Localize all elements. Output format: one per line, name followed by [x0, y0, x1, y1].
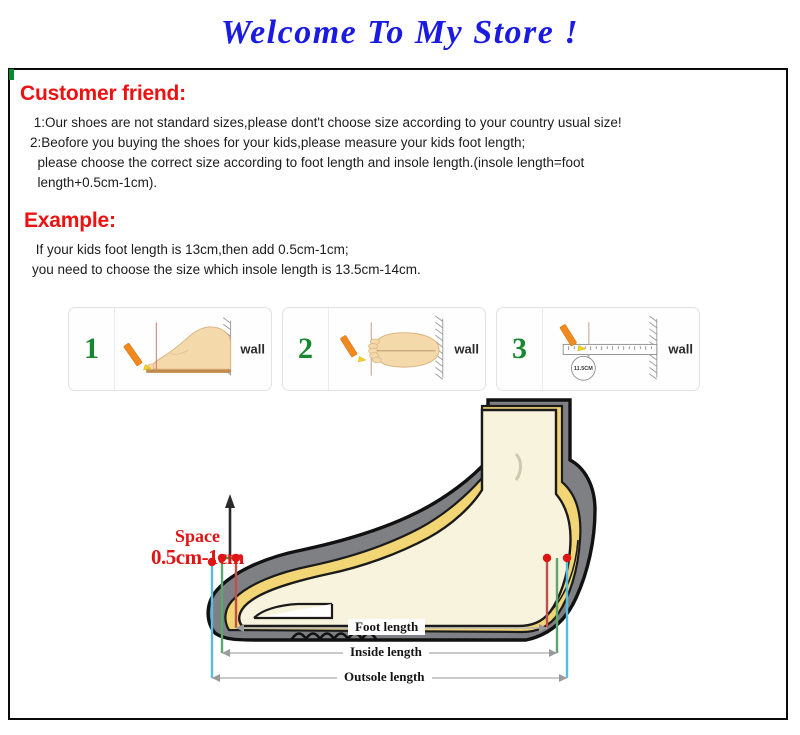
customer-friend-heading: Customer friend:	[20, 82, 186, 106]
step-3-illustration: 11.5CM wall	[543, 308, 699, 390]
step-2-wall-label: wall	[454, 342, 479, 357]
measuring-steps: 1	[68, 307, 700, 389]
inside-length-label: Inside length	[343, 644, 429, 660]
step-3-wall-label: wall	[668, 342, 693, 357]
step-3-number: 3	[497, 308, 543, 390]
space-callout: Space 0.5cm-1cm	[151, 527, 244, 568]
customer-friend-text: 1:Our shoes are not standard sizes,pleas…	[30, 113, 622, 193]
step-1-illustration: wall	[115, 308, 271, 390]
example-text: If your kids foot length is 13cm,then ad…	[32, 240, 421, 280]
page-header: Welcome To My Store !	[0, 0, 800, 66]
step-1-number: 1	[69, 308, 115, 390]
outsole-length-label: Outsole length	[337, 669, 432, 685]
step-2: 2	[282, 307, 486, 391]
space-callout-line2: 0.5cm-1cm	[151, 546, 244, 568]
step-2-illustration: wall	[329, 308, 485, 390]
page-title: Welcome To My Store !	[221, 14, 579, 52]
step-1: 1	[68, 307, 272, 391]
foot-length-label: Foot length	[348, 619, 425, 635]
corner-marker-icon	[9, 69, 14, 80]
info-box: Customer friend: 1:Our shoes are not sta…	[8, 68, 788, 720]
shoe-cross-section-diagram: Space 0.5cm-1cm Foot length Inside lengt…	[10, 390, 786, 718]
step-1-wall-label: wall	[240, 342, 265, 357]
pencil-icon	[340, 335, 366, 362]
ruler-callout-value: 11.5CM	[574, 366, 593, 372]
step-3: 3	[496, 307, 700, 391]
example-heading: Example:	[24, 209, 116, 233]
space-callout-line1: Space	[151, 527, 244, 546]
pencil-icon	[123, 343, 150, 370]
step-2-number: 2	[283, 308, 329, 390]
